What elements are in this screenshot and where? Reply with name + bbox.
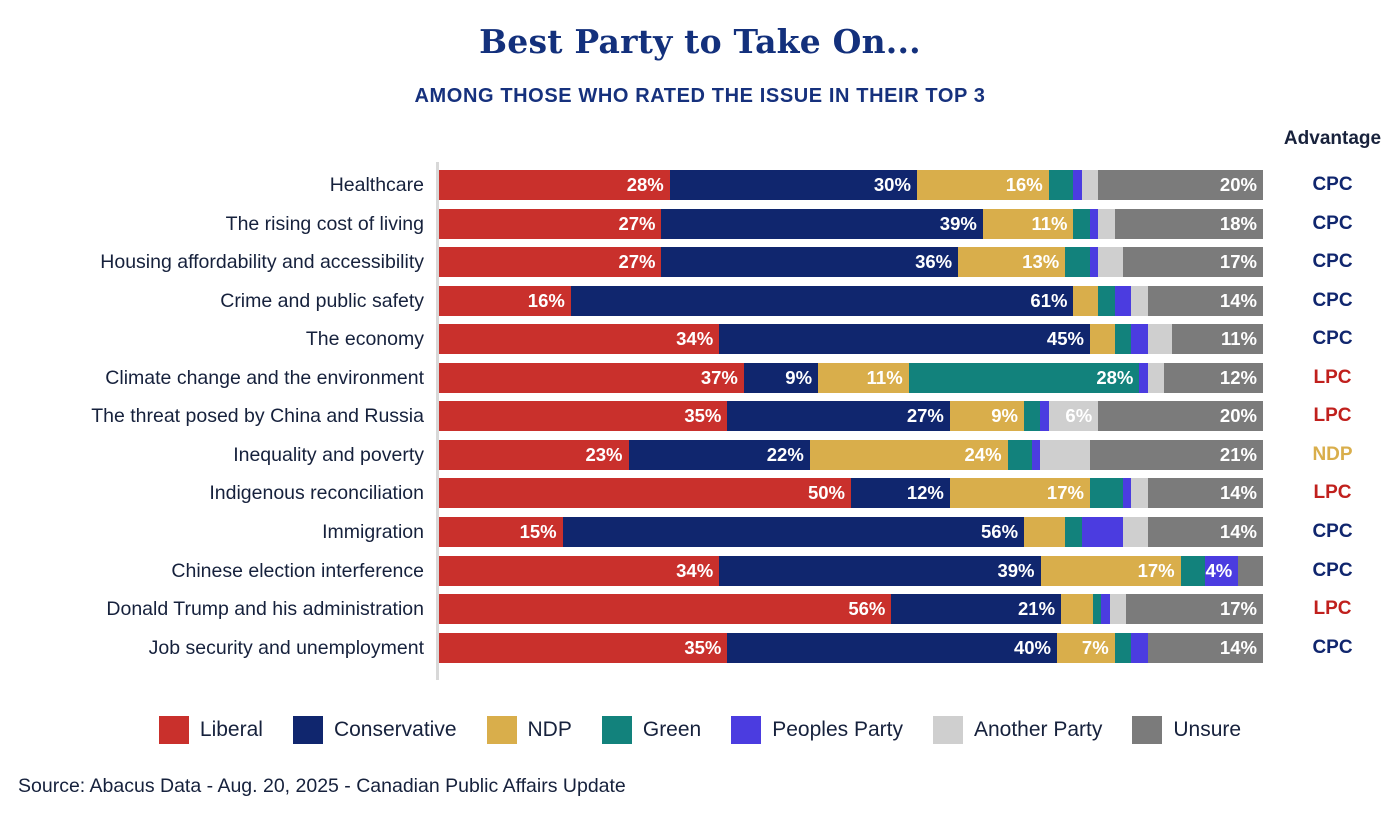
bar-segment-another-party xyxy=(1148,363,1164,393)
chart-row: Inequality and poverty23%22%24%21%NDP xyxy=(0,440,1400,470)
legend-swatch-icon xyxy=(933,716,963,744)
bar-segment-green xyxy=(1181,556,1206,586)
bar-segment-conservative: 39% xyxy=(661,209,982,239)
bar-segment-green xyxy=(1115,633,1131,663)
segment-value-label: 20% xyxy=(1220,401,1257,431)
chart-row: Healthcare28%30%16%20%CPC xyxy=(0,170,1400,200)
advantage-value: CPC xyxy=(1265,324,1400,354)
segment-value-label: 40% xyxy=(1014,633,1051,663)
segment-value-label: 27% xyxy=(618,209,655,239)
category-label: The economy xyxy=(0,324,424,354)
segment-value-label: 61% xyxy=(1030,286,1067,316)
bar-segment-another-party: 6% xyxy=(1049,401,1098,431)
advantage-value: CPC xyxy=(1265,170,1400,200)
stacked-bar: 34%39%17%4% xyxy=(439,556,1263,586)
bar-segment-peoples-party xyxy=(1082,517,1123,547)
plot-area: Healthcare28%30%16%20%CPCThe rising cost… xyxy=(0,162,1400,682)
segment-value-label: 37% xyxy=(701,363,738,393)
segment-value-label: 7% xyxy=(1082,633,1109,663)
legend-item-unsure[interactable]: Unsure xyxy=(1132,716,1241,744)
bar-segment-ndp: 24% xyxy=(810,440,1008,470)
category-label: Job security and unemployment xyxy=(0,633,424,663)
bar-segment-peoples-party xyxy=(1131,633,1147,663)
bar-segment-another-party xyxy=(1040,440,1089,470)
bar-segment-unsure: 14% xyxy=(1148,478,1263,508)
segment-value-label: 12% xyxy=(1220,363,1257,393)
bar-segment-ndp: 11% xyxy=(818,363,909,393)
legend-swatch-icon xyxy=(731,716,761,744)
category-label: Chinese election interference xyxy=(0,556,424,586)
bar-segment-liberal: 16% xyxy=(439,286,571,316)
segment-value-label: 39% xyxy=(940,209,977,239)
bar-segment-conservative: 12% xyxy=(851,478,950,508)
bar-segment-liberal: 37% xyxy=(439,363,744,393)
bar-segment-ndp: 13% xyxy=(958,247,1065,277)
segment-value-label: 28% xyxy=(627,170,664,200)
bar-segment-another-party xyxy=(1131,286,1147,316)
bar-segment-another-party xyxy=(1123,517,1148,547)
bar-segment-unsure: 12% xyxy=(1164,363,1263,393)
bar-segment-unsure: 14% xyxy=(1148,286,1263,316)
advantage-value: LPC xyxy=(1265,478,1400,508)
segment-value-label: 17% xyxy=(1220,247,1257,277)
segment-value-label: 39% xyxy=(997,556,1034,586)
segment-value-label: 6% xyxy=(1065,401,1092,431)
legend-item-conservative[interactable]: Conservative xyxy=(293,716,457,744)
stacked-bar: 27%39%11%18% xyxy=(439,209,1263,239)
segment-value-label: 35% xyxy=(684,401,721,431)
advantage-value: LPC xyxy=(1265,401,1400,431)
bar-segment-ndp: 11% xyxy=(983,209,1074,239)
legend-label: NDP xyxy=(528,718,572,742)
segment-value-label: 11% xyxy=(1031,209,1067,239)
bar-segment-liberal: 23% xyxy=(439,440,629,470)
bar-segment-peoples-party xyxy=(1073,170,1081,200)
bar-segment-liberal: 34% xyxy=(439,324,719,354)
chart-row: Chinese election interference34%39%17%4%… xyxy=(0,556,1400,586)
bar-segment-liberal: 56% xyxy=(439,594,891,624)
bar-segment-peoples-party xyxy=(1123,478,1131,508)
bar-segment-conservative: 40% xyxy=(727,633,1057,663)
legend-swatch-icon xyxy=(1132,716,1162,744)
bar-segment-unsure: 18% xyxy=(1115,209,1263,239)
segment-value-label: 28% xyxy=(1096,363,1133,393)
segment-value-label: 9% xyxy=(785,363,812,393)
segment-value-label: 30% xyxy=(874,170,911,200)
chart-row: Immigration15%56%14%CPC xyxy=(0,517,1400,547)
bar-segment-liberal: 27% xyxy=(439,247,661,277)
chart-row: Crime and public safety16%61%14%CPC xyxy=(0,286,1400,316)
segment-value-label: 13% xyxy=(1022,247,1059,277)
segment-value-label: 17% xyxy=(1047,478,1084,508)
bar-segment-ndp xyxy=(1061,594,1093,624)
bar-segment-another-party xyxy=(1110,594,1126,624)
segment-value-label: 15% xyxy=(520,517,557,547)
segment-value-label: 14% xyxy=(1220,633,1257,663)
category-label: Immigration xyxy=(0,517,424,547)
stacked-bar: 34%45%11% xyxy=(439,324,1263,354)
legend-swatch-icon xyxy=(602,716,632,744)
segment-value-label: 12% xyxy=(907,478,944,508)
bar-segment-green xyxy=(1065,247,1090,277)
chart-row: Climate change and the environment37%9%1… xyxy=(0,363,1400,393)
legend-label: Unsure xyxy=(1173,718,1241,742)
chart-row: The economy34%45%11%CPC xyxy=(0,324,1400,354)
bar-segment-unsure: 11% xyxy=(1172,324,1263,354)
segment-value-label: 16% xyxy=(528,286,565,316)
page-title: Best Party to Take On... xyxy=(0,22,1400,61)
bar-segment-ndp xyxy=(1090,324,1115,354)
bar-segment-liberal: 50% xyxy=(439,478,851,508)
legend-item-green[interactable]: Green xyxy=(602,716,701,744)
segment-value-label: 20% xyxy=(1220,170,1257,200)
bar-segment-unsure: 14% xyxy=(1148,517,1263,547)
bar-segment-green xyxy=(1098,286,1114,316)
bar-segment-conservative: 56% xyxy=(563,517,1024,547)
segment-value-label: 56% xyxy=(848,594,885,624)
category-label: Inequality and poverty xyxy=(0,440,424,470)
bar-segment-peoples-party xyxy=(1090,247,1098,277)
legend-label: Liberal xyxy=(200,718,263,742)
bar-segment-liberal: 35% xyxy=(439,633,727,663)
segment-value-label: 11% xyxy=(1221,324,1257,354)
bar-segment-green xyxy=(1065,517,1081,547)
segment-value-label: 34% xyxy=(676,556,713,586)
bar-segment-conservative: 36% xyxy=(661,247,958,277)
legend-item-peoples-party[interactable]: Peoples Party xyxy=(731,716,903,744)
chart-row: The rising cost of living27%39%11%18%CPC xyxy=(0,209,1400,239)
stacked-bar: 28%30%16%20% xyxy=(439,170,1263,200)
legend-swatch-icon xyxy=(487,716,517,744)
advantage-column-header: Advantage xyxy=(1265,128,1400,150)
bar-segment-green xyxy=(1073,209,1089,239)
advantage-value: CPC xyxy=(1265,286,1400,316)
category-label: Healthcare xyxy=(0,170,424,200)
segment-value-label: 14% xyxy=(1220,286,1257,316)
segment-value-label: 36% xyxy=(915,247,952,277)
bar-segment-ndp xyxy=(1073,286,1098,316)
bar-segment-conservative: 61% xyxy=(571,286,1074,316)
category-label: Climate change and the environment xyxy=(0,363,424,393)
segment-value-label: 17% xyxy=(1138,556,1175,586)
chart-row: Donald Trump and his administration56%21… xyxy=(0,594,1400,624)
segment-value-label: 24% xyxy=(965,440,1002,470)
bar-segment-unsure: 17% xyxy=(1123,247,1263,277)
bar-segment-unsure: 14% xyxy=(1148,633,1263,663)
advantage-value: LPC xyxy=(1265,594,1400,624)
advantage-value: CPC xyxy=(1265,517,1400,547)
chart-row: Housing affordability and accessibility2… xyxy=(0,247,1400,277)
bar-segment-unsure: 20% xyxy=(1098,170,1263,200)
bar-segment-another-party xyxy=(1082,170,1098,200)
bar-segment-conservative: 27% xyxy=(727,401,949,431)
chart-row: Job security and unemployment35%40%7%14%… xyxy=(0,633,1400,663)
bar-segment-conservative: 22% xyxy=(629,440,810,470)
stacked-bar: 27%36%13%17% xyxy=(439,247,1263,277)
bar-segment-green: 28% xyxy=(909,363,1140,393)
category-label: The rising cost of living xyxy=(0,209,424,239)
bar-segment-green xyxy=(1090,478,1123,508)
stacked-bar: 56%21%17% xyxy=(439,594,1263,624)
chart-row: The threat posed by China and Russia35%2… xyxy=(0,401,1400,431)
segment-value-label: 56% xyxy=(981,517,1018,547)
bar-segment-ndp: 17% xyxy=(1041,556,1181,586)
legend-item-another-party[interactable]: Another Party xyxy=(933,716,1102,744)
bar-segment-conservative: 21% xyxy=(891,594,1061,624)
bar-segment-liberal: 15% xyxy=(439,517,563,547)
advantage-value: NDP xyxy=(1265,440,1400,470)
advantage-value: CPC xyxy=(1265,247,1400,277)
bar-segment-unsure: 20% xyxy=(1098,401,1263,431)
legend-swatch-icon xyxy=(159,716,189,744)
advantage-value: CPC xyxy=(1265,556,1400,586)
segment-value-label: 23% xyxy=(585,440,622,470)
segment-value-label: 50% xyxy=(808,478,845,508)
bar-segment-green xyxy=(1093,594,1101,624)
bar-segment-peoples-party xyxy=(1131,324,1147,354)
legend: LiberalConservativeNDPGreenPeoples Party… xyxy=(0,710,1400,750)
bar-segment-peoples-party xyxy=(1139,363,1147,393)
bar-segment-peoples-party xyxy=(1115,286,1131,316)
bar-segment-green xyxy=(1008,440,1033,470)
bar-segment-another-party xyxy=(1098,209,1114,239)
legend-label: Conservative xyxy=(334,718,457,742)
segment-value-label: 27% xyxy=(907,401,944,431)
bar-segment-peoples-party xyxy=(1090,209,1098,239)
category-label: Crime and public safety xyxy=(0,286,424,316)
page-subtitle: AMONG THOSE WHO RATED THE ISSUE IN THEIR… xyxy=(0,85,1400,108)
bar-segment-green xyxy=(1115,324,1131,354)
legend-item-ndp[interactable]: NDP xyxy=(487,716,572,744)
bar-segment-peoples-party: 4% xyxy=(1205,556,1238,586)
bar-segment-another-party xyxy=(1098,247,1123,277)
segment-value-label: 27% xyxy=(618,247,655,277)
segment-value-label: 4% xyxy=(1206,556,1233,586)
stacked-bar: 16%61%14% xyxy=(439,286,1263,316)
bar-segment-unsure xyxy=(1238,556,1263,586)
segment-value-label: 9% xyxy=(991,401,1018,431)
segment-value-label: 21% xyxy=(1018,594,1055,624)
legend-label: Another Party xyxy=(974,718,1102,742)
stacked-bar: 37%9%11%28%12% xyxy=(439,363,1263,393)
bar-segment-peoples-party xyxy=(1040,401,1048,431)
stacked-bar: 23%22%24%21% xyxy=(439,440,1263,470)
bar-segment-liberal: 34% xyxy=(439,556,719,586)
bar-segment-conservative: 30% xyxy=(670,170,917,200)
category-label: Housing affordability and accessibility xyxy=(0,247,424,277)
advantage-value: LPC xyxy=(1265,363,1400,393)
segment-value-label: 45% xyxy=(1047,324,1084,354)
segment-value-label: 18% xyxy=(1220,209,1257,239)
chart-row: Indigenous reconciliation50%12%17%14%LPC xyxy=(0,478,1400,508)
bar-segment-ndp: 9% xyxy=(950,401,1024,431)
stacked-bar: 35%40%7%14% xyxy=(439,633,1263,663)
bar-segment-liberal: 28% xyxy=(439,170,670,200)
bar-segment-ndp: 17% xyxy=(950,478,1090,508)
bar-segment-green xyxy=(1024,401,1040,431)
bar-segment-unsure: 21% xyxy=(1090,440,1263,470)
bar-segment-liberal: 35% xyxy=(439,401,727,431)
category-label: Donald Trump and his administration xyxy=(0,594,424,624)
bar-segment-unsure: 17% xyxy=(1126,594,1263,624)
segment-value-label: 16% xyxy=(1006,170,1043,200)
bar-segment-conservative: 9% xyxy=(744,363,818,393)
segment-value-label: 21% xyxy=(1220,440,1257,470)
segment-value-label: 11% xyxy=(867,363,903,393)
bar-segment-peoples-party xyxy=(1101,594,1109,624)
segment-value-label: 14% xyxy=(1220,478,1257,508)
bar-segment-green xyxy=(1049,170,1074,200)
legend-label: Green xyxy=(643,718,701,742)
bar-segment-another-party xyxy=(1131,478,1147,508)
chart-root: Best Party to Take On... AMONG THOSE WHO… xyxy=(0,0,1400,821)
bar-segment-ndp: 7% xyxy=(1057,633,1115,663)
bar-segment-liberal: 27% xyxy=(439,209,661,239)
bar-segment-ndp: 16% xyxy=(917,170,1049,200)
category-label: Indigenous reconciliation xyxy=(0,478,424,508)
bar-segment-ndp xyxy=(1024,517,1065,547)
category-label: The threat posed by China and Russia xyxy=(0,401,424,431)
advantage-value: CPC xyxy=(1265,209,1400,239)
stacked-bar: 35%27%9%6%20% xyxy=(439,401,1263,431)
advantage-value: CPC xyxy=(1265,633,1400,663)
source-note: Source: Abacus Data - Aug. 20, 2025 - Ca… xyxy=(18,775,626,798)
legend-label: Peoples Party xyxy=(772,718,903,742)
legend-item-liberal[interactable]: Liberal xyxy=(159,716,263,744)
segment-value-label: 35% xyxy=(684,633,721,663)
segment-value-label: 34% xyxy=(676,324,713,354)
bar-segment-conservative: 45% xyxy=(719,324,1090,354)
bar-segment-conservative: 39% xyxy=(719,556,1040,586)
bar-segment-another-party xyxy=(1148,324,1173,354)
segment-value-label: 22% xyxy=(767,440,804,470)
stacked-bar: 50%12%17%14% xyxy=(439,478,1263,508)
stacked-bar: 15%56%14% xyxy=(439,517,1263,547)
segment-value-label: 17% xyxy=(1220,594,1257,624)
bar-segment-peoples-party xyxy=(1032,440,1040,470)
segment-value-label: 14% xyxy=(1220,517,1257,547)
legend-swatch-icon xyxy=(293,716,323,744)
